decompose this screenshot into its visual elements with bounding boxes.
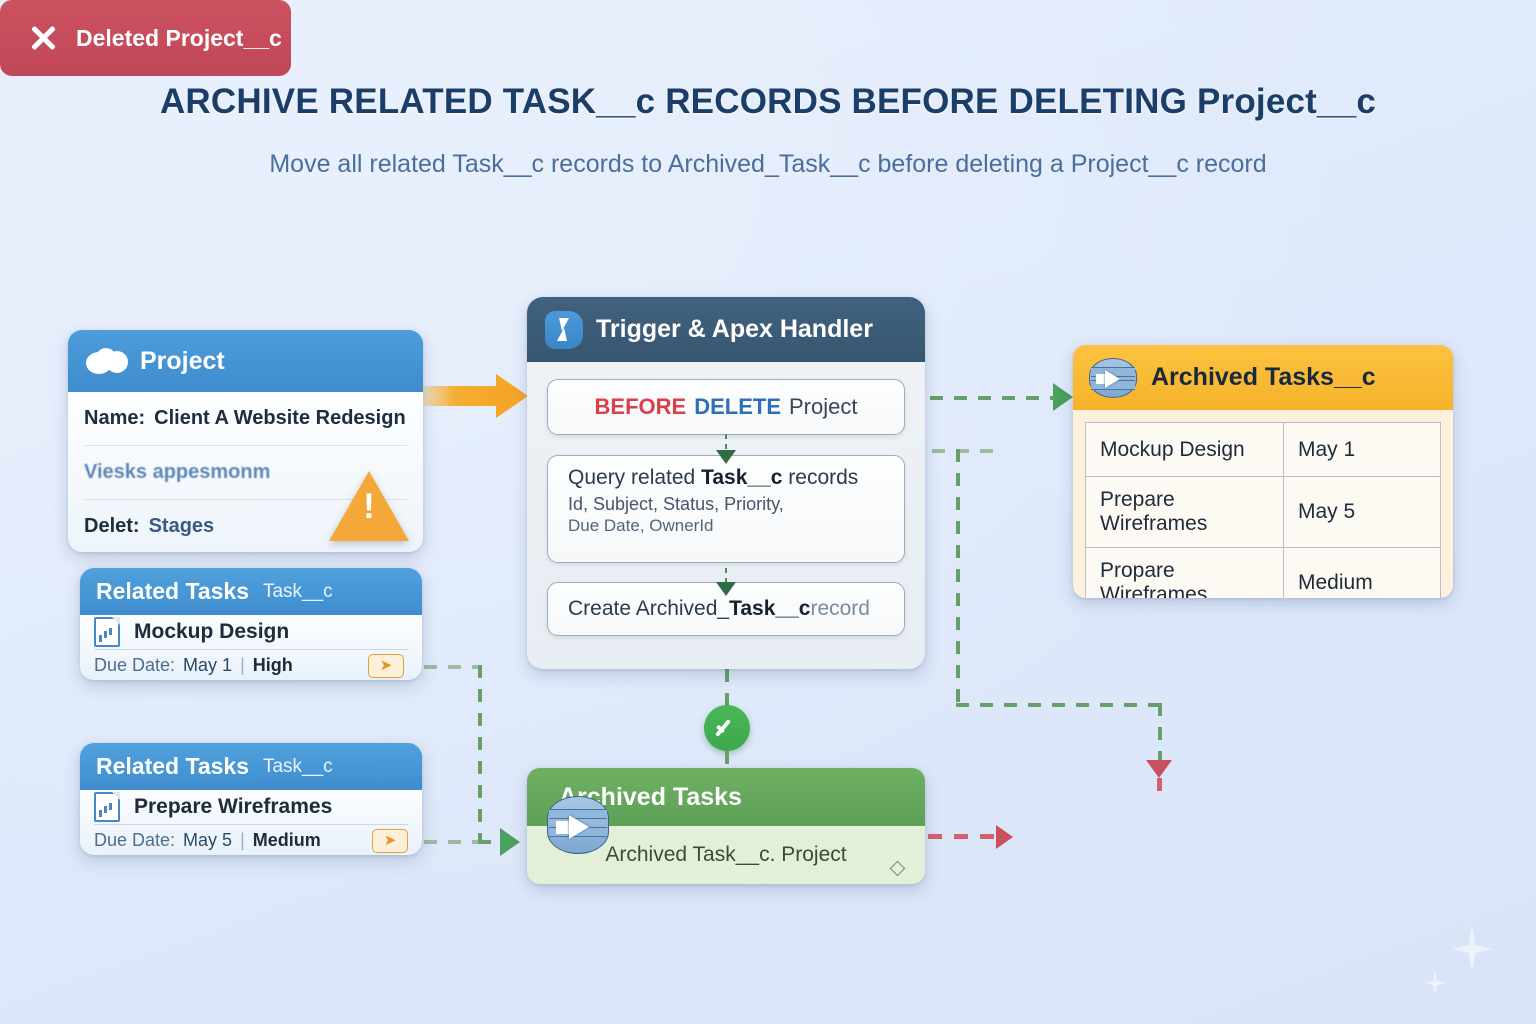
table-row[interactable]: Propare Wireframes Medium (1086, 548, 1441, 599)
archived-green-text: Archived Task__c. Project (605, 843, 846, 867)
deleted-project-card[interactable]: Deleted Project__c (0, 0, 291, 76)
connector-trigger-to-table (930, 396, 1058, 400)
project-blurred-value: Viesks appesmonm (84, 461, 270, 484)
archived-row-2-name: Prepare Wireframes (1086, 477, 1284, 548)
create-step-pre: Create Archived_ (568, 597, 729, 621)
x-close-icon (28, 23, 58, 53)
table-row[interactable]: Mockup Design May 1 (1086, 423, 1441, 477)
related-task-1-separator: | (240, 655, 245, 676)
sparkle-large-icon (1452, 925, 1492, 973)
connector-trigger-to-archived (725, 669, 729, 707)
project-delete-label: Delet: (84, 515, 140, 538)
query-step-post: records (782, 466, 858, 489)
page-subtitle: Move all related Task__c records to Arch… (0, 150, 1536, 179)
arrow-right-icon[interactable]: ➤ (368, 654, 404, 678)
archived-tasks-result-card[interactable]: Archived Tasks Archived Task__c. Project (527, 768, 925, 884)
query-step-line3: Due Date, OwnerId (568, 516, 884, 536)
arrowhead-tasks-to-archived-icon (500, 828, 520, 856)
related-task-2-header: Related Tasks Task__c (80, 743, 422, 790)
trigger-apex-handler-panel[interactable]: Trigger & Apex Handler BEFORE DELETE Pro… (527, 297, 925, 669)
related-task-2-body: Prepare Wireframes Due Date: May 5 | Med… (80, 790, 422, 855)
related-task-card-2[interactable]: Related Tasks Task__c Prepare Wireframes… (80, 743, 422, 855)
check-circle-icon (704, 705, 750, 751)
archived-row-3-value: Medium (1284, 548, 1441, 599)
related-task-1-meta-row: Due Date: May 1 | High ➤ (94, 650, 408, 680)
document-chart-icon (94, 617, 120, 647)
lightning-bolt-icon (545, 311, 583, 349)
connector-deleted-stub (1157, 778, 1162, 802)
related-task-2-due-label: Due Date: (94, 830, 175, 851)
related-task-2-object: Task__c (263, 756, 333, 778)
deleted-project-label: Deleted Project__c (76, 25, 282, 52)
connector-task1-down (478, 665, 482, 840)
related-task-2-priority: Medium (253, 830, 321, 851)
archived-row-1-name: Mockup Design (1086, 423, 1284, 477)
project-card-title: Project (140, 347, 225, 376)
database-archive-icon (1089, 358, 1137, 398)
arrowhead-branch-to-deleted-icon (1146, 760, 1172, 778)
create-step-object: Task__c (729, 597, 810, 621)
keyword-before: BEFORE (595, 394, 687, 420)
connector-trigger-branch-down (956, 449, 960, 707)
related-task-2-meta-row: Due Date: May 5 | Medium ➤ (94, 825, 408, 855)
related-task-2-separator: | (240, 830, 245, 851)
keyword-object: Project (789, 394, 857, 420)
sparkle-small-icon (1424, 970, 1446, 996)
cloud-icon (84, 348, 128, 374)
page-title: ARCHIVE RELATED TASK__c RECORDS BEFORE D… (0, 82, 1536, 122)
keyword-delete: DELETE (694, 394, 781, 420)
table-row[interactable]: Prepare Wireframes May 5 (1086, 477, 1441, 548)
archived-table-header: Archived Tasks__c (1073, 345, 1453, 410)
project-row-name: Name: Client A Website Redesign (84, 392, 407, 446)
related-task-1-name: Mockup Design (134, 620, 289, 644)
connector-project-to-trigger (420, 386, 498, 406)
trigger-panel-header: Trigger & Apex Handler (527, 297, 925, 362)
related-task-1-due-label: Due Date: (94, 655, 175, 676)
query-step-line1: Query related Task__c records (568, 465, 884, 491)
archived-tasks-table-card[interactable]: Archived Tasks__c Mockup Design May 1 Pr… (1073, 345, 1453, 598)
related-task-1-due-date: May 1 (183, 655, 232, 676)
arrow-step1-to-step2-icon (725, 434, 727, 451)
related-task-1-priority: High (253, 655, 293, 676)
warning-triangle-icon (329, 471, 409, 541)
archived-table-title: Archived Tasks__c (1151, 363, 1376, 392)
related-task-card-1[interactable]: Related Tasks Task__c Mockup Design Due … (80, 568, 422, 680)
related-task-1-title: Related Tasks (96, 578, 249, 605)
trigger-step-query-tasks[interactable]: Query related Task__c records Id, Subjec… (547, 455, 905, 563)
connector-branch-to-deleted (1158, 703, 1162, 765)
connector-archived-to-deleted (928, 834, 1003, 839)
archived-row-3-name: Propare Wireframes (1086, 548, 1284, 599)
query-step-pre: Query related (568, 466, 701, 489)
related-task-2-title: Related Tasks (96, 753, 249, 780)
connector-trigger-branch-right (956, 703, 1162, 707)
project-delete-value: Stages (149, 515, 215, 538)
archived-tasks-table: Mockup Design May 1 Prepare Wireframes M… (1085, 422, 1441, 598)
project-card-header: Project (68, 330, 423, 392)
related-task-1-body: Mockup Design Due Date: May 1 | High ➤ (80, 615, 422, 680)
related-task-2-name-row: Prepare Wireframes (94, 790, 408, 825)
arrow-step2-to-step3-icon (725, 568, 727, 583)
trigger-step-before-delete[interactable]: BEFORE DELETE Project (547, 379, 905, 435)
project-name-label: Name: (84, 407, 145, 430)
document-chart-icon (94, 792, 120, 822)
archived-table-body: Mockup Design May 1 Prepare Wireframes M… (1073, 410, 1453, 598)
related-task-1-name-row: Mockup Design (94, 615, 408, 650)
trigger-panel-title: Trigger & Apex Handler (596, 315, 873, 344)
related-task-2-due-date: May 5 (183, 830, 232, 851)
connector-task1-out (424, 665, 482, 669)
connector-trigger-branch-top (932, 449, 995, 453)
arrowhead-archived-to-deleted-icon (996, 825, 1013, 849)
query-step-object: Task__c (701, 466, 782, 489)
project-name-value: Client A Website Redesign (154, 407, 406, 430)
query-step-line2: Id, Subject, Status, Priority, (568, 494, 884, 515)
archived-row-1-value: May 1 (1284, 423, 1441, 477)
create-step-post: record (810, 597, 870, 621)
trigger-panel-body: BEFORE DELETE Project Query related Task… (527, 362, 925, 669)
related-task-1-header: Related Tasks Task__c (80, 568, 422, 615)
diamond-marker-icon (890, 861, 906, 877)
arrow-right-icon[interactable]: ➤ (372, 829, 408, 853)
database-archive-icon (547, 796, 609, 854)
related-task-2-name: Prepare Wireframes (134, 795, 332, 819)
archived-row-2-value: May 5 (1284, 477, 1441, 548)
arrowhead-trigger-to-table-icon (1053, 383, 1073, 411)
related-task-1-object: Task__c (263, 581, 333, 603)
